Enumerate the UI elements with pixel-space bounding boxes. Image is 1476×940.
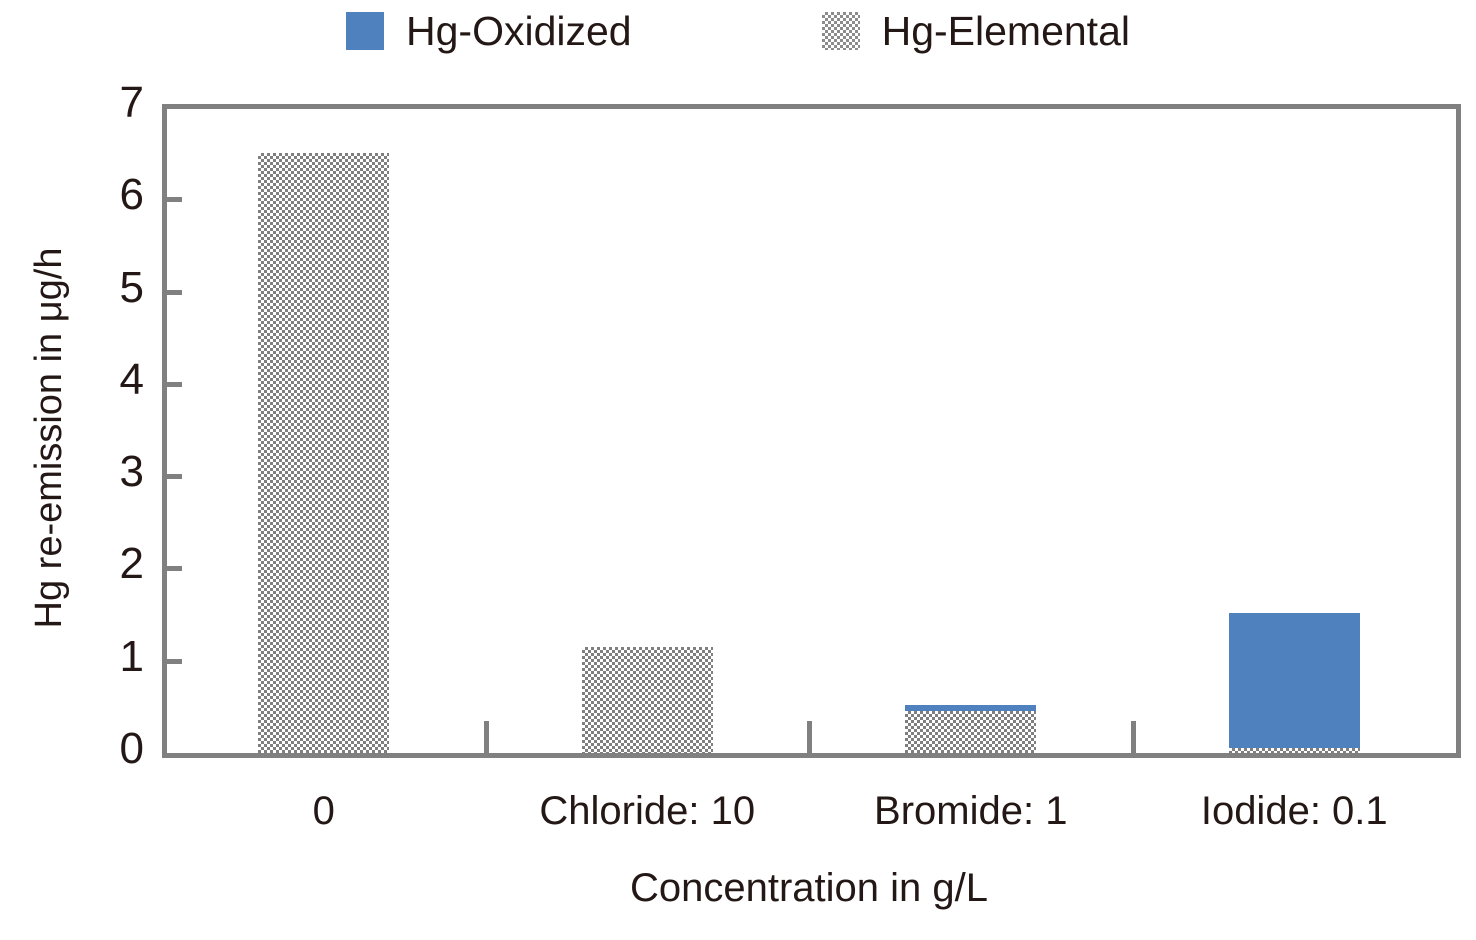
legend-item-hg-elemental: Hg-Elemental xyxy=(822,11,1130,52)
legend-swatch-elemental-icon xyxy=(822,12,860,50)
y-axis-tick-label: 5 xyxy=(24,266,144,310)
bar-stack xyxy=(258,107,389,753)
bar-segment-oxidized xyxy=(905,705,1036,711)
y-axis-tick-label: 7 xyxy=(24,81,144,125)
bar-segment-oxidized xyxy=(1229,613,1360,749)
x-axis-tick-label: 0 xyxy=(162,791,486,831)
x-axis-tick xyxy=(1131,721,1136,753)
x-axis-tick-label: Bromide: 1 xyxy=(809,791,1133,831)
bar-stack xyxy=(582,107,713,753)
x-axis-tick-label: Iodide: 0.1 xyxy=(1133,791,1457,831)
y-axis-tick xyxy=(162,474,182,479)
bar-segment-elemental xyxy=(258,153,389,753)
y-axis-tick xyxy=(162,290,182,295)
y-axis-tick-label: 6 xyxy=(24,173,144,217)
x-axis-tick-label: Chloride: 10 xyxy=(486,791,810,831)
legend-label-oxidized: Hg-Oxidized xyxy=(406,11,632,52)
y-axis-tick xyxy=(162,382,182,387)
bar-stack xyxy=(1229,107,1360,753)
y-axis-tick-label: 3 xyxy=(24,450,144,494)
chart-legend: Hg-Oxidized Hg-Elemental xyxy=(0,0,1476,62)
x-axis-tick xyxy=(484,721,489,753)
y-axis-tick xyxy=(162,197,182,202)
bar-chart: Hg-Oxidized Hg-Elemental Hg re-emission … xyxy=(0,0,1476,940)
bar-segment-elemental xyxy=(1229,748,1360,753)
legend-item-hg-oxidized: Hg-Oxidized xyxy=(346,11,632,52)
y-axis-tick-label: 4 xyxy=(24,358,144,402)
bar-stack xyxy=(905,107,1036,753)
x-axis-tick xyxy=(807,721,812,753)
y-axis-tick xyxy=(162,659,182,664)
legend-label-elemental: Hg-Elemental xyxy=(882,11,1130,52)
bar-segment-elemental xyxy=(582,647,713,753)
y-axis-tick-label: 2 xyxy=(24,542,144,586)
y-axis-tick-label: 0 xyxy=(24,727,144,771)
x-axis-title: Concentration in g/L xyxy=(162,868,1456,908)
y-axis-tick xyxy=(162,566,182,571)
y-axis-tick-label: 1 xyxy=(24,635,144,679)
legend-swatch-oxidized-icon xyxy=(346,12,384,50)
bar-segment-elemental xyxy=(905,711,1036,753)
